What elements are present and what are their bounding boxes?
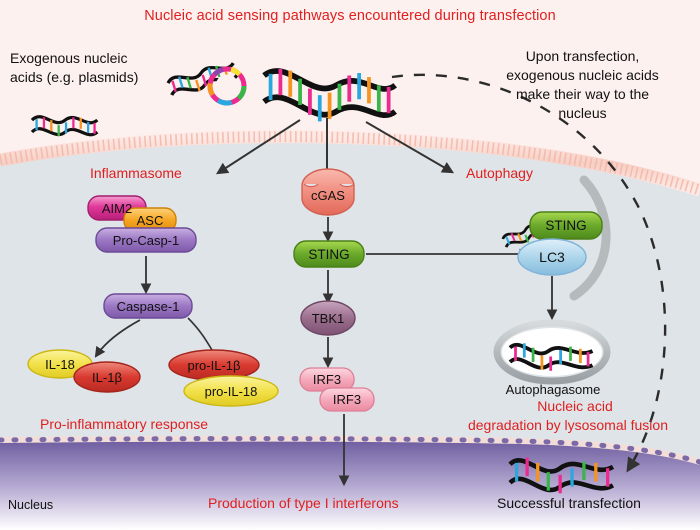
label-exogenous-line1: Exogenous nucleic bbox=[10, 50, 190, 67]
page-title: Nucleic acid sensing pathways encountere… bbox=[0, 8, 700, 24]
node-sting-autophagy[interactable] bbox=[530, 212, 602, 239]
label-autophagasome: Autophagasome bbox=[498, 381, 608, 398]
node-lc3[interactable] bbox=[518, 239, 586, 275]
label-successful-transfection: Successful transfection bbox=[497, 495, 641, 512]
node-cgas[interactable] bbox=[302, 169, 354, 215]
label-inflammasome: Inflammasome bbox=[90, 165, 182, 182]
label-exogenous-line2: acids (e.g. plasmids) bbox=[10, 69, 210, 86]
label-autophagy: Autophagy bbox=[466, 165, 533, 182]
label-upon-transfection-line4: nucleus bbox=[470, 105, 695, 122]
label-upon-transfection-line3: make their way to the bbox=[470, 86, 695, 103]
label-pro-inflammatory: Pro-inflammatory response bbox=[40, 416, 208, 433]
node-sting[interactable] bbox=[294, 241, 364, 267]
node-tbk1[interactable] bbox=[301, 301, 355, 335]
node-irf3-b[interactable] bbox=[320, 388, 374, 411]
label-nucleic-acid-deg-line2: degradation by lysosomal fusion bbox=[443, 417, 693, 434]
label-upon-transfection-line1: Upon transfection, bbox=[470, 48, 695, 65]
nucleus-region bbox=[0, 439, 700, 530]
label-production-interferons: Production of type I interferons bbox=[208, 495, 399, 512]
label-nucleic-acid-deg-line1: Nucleic acid bbox=[455, 398, 695, 415]
node-pro-il-1b[interactable] bbox=[169, 350, 259, 380]
label-upon-transfection-line2: exogenous nucleic acids bbox=[470, 67, 695, 84]
node-caspase-1[interactable] bbox=[104, 294, 192, 318]
label-nucleus: Nucleus bbox=[8, 498, 53, 512]
node-pro-il-18[interactable] bbox=[184, 376, 278, 406]
diagram-canvas: Nucleic acid sensing pathways encountere… bbox=[0, 0, 700, 530]
node-pro-casp-1[interactable] bbox=[96, 228, 196, 252]
node-il-1b[interactable] bbox=[74, 362, 140, 392]
